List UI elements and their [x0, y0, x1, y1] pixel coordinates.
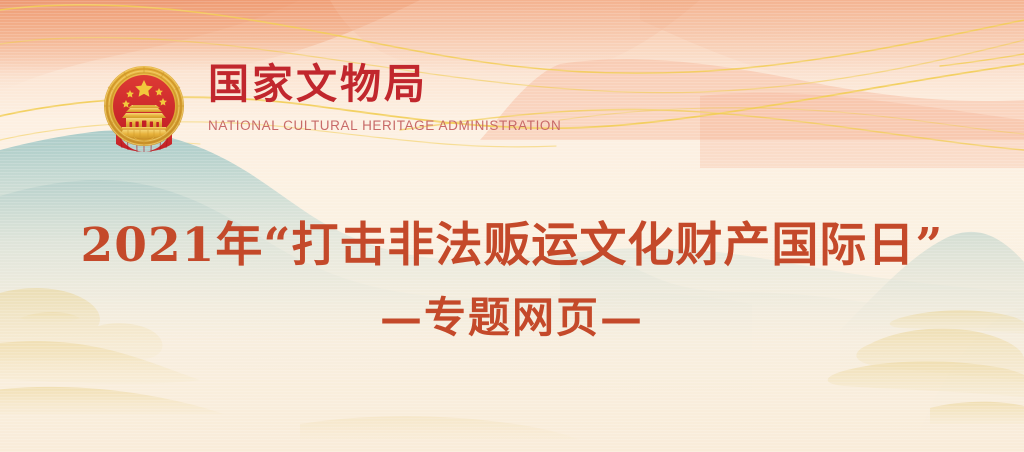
banner-title-main: 2021年“打击非法贩运文化财产国际日” — [0, 222, 1024, 269]
logo-lockup: 国家文物局 NATIONAL CULTURAL HERITAGE ADMINIS… — [92, 56, 561, 160]
logo-text-block: 国家文物局 NATIONAL CULTURAL HERITAGE ADMINIS… — [208, 56, 561, 133]
heritage-day-banner: 国家文物局 NATIONAL CULTURAL HERITAGE ADMINIS… — [0, 0, 1024, 452]
title-block: 2021年“打击非法贩运文化财产国际日” —专题网页— — [0, 222, 1024, 339]
cloud-center — [300, 416, 580, 440]
organization-name-en: NATIONAL CULTURAL HERITAGE ADMINISTRATIO… — [208, 119, 561, 133]
organization-name-cn: 国家文物局 — [208, 64, 561, 105]
banner-title-sub: —专题网页— — [0, 297, 1024, 339]
national-emblem-icon — [92, 56, 196, 160]
